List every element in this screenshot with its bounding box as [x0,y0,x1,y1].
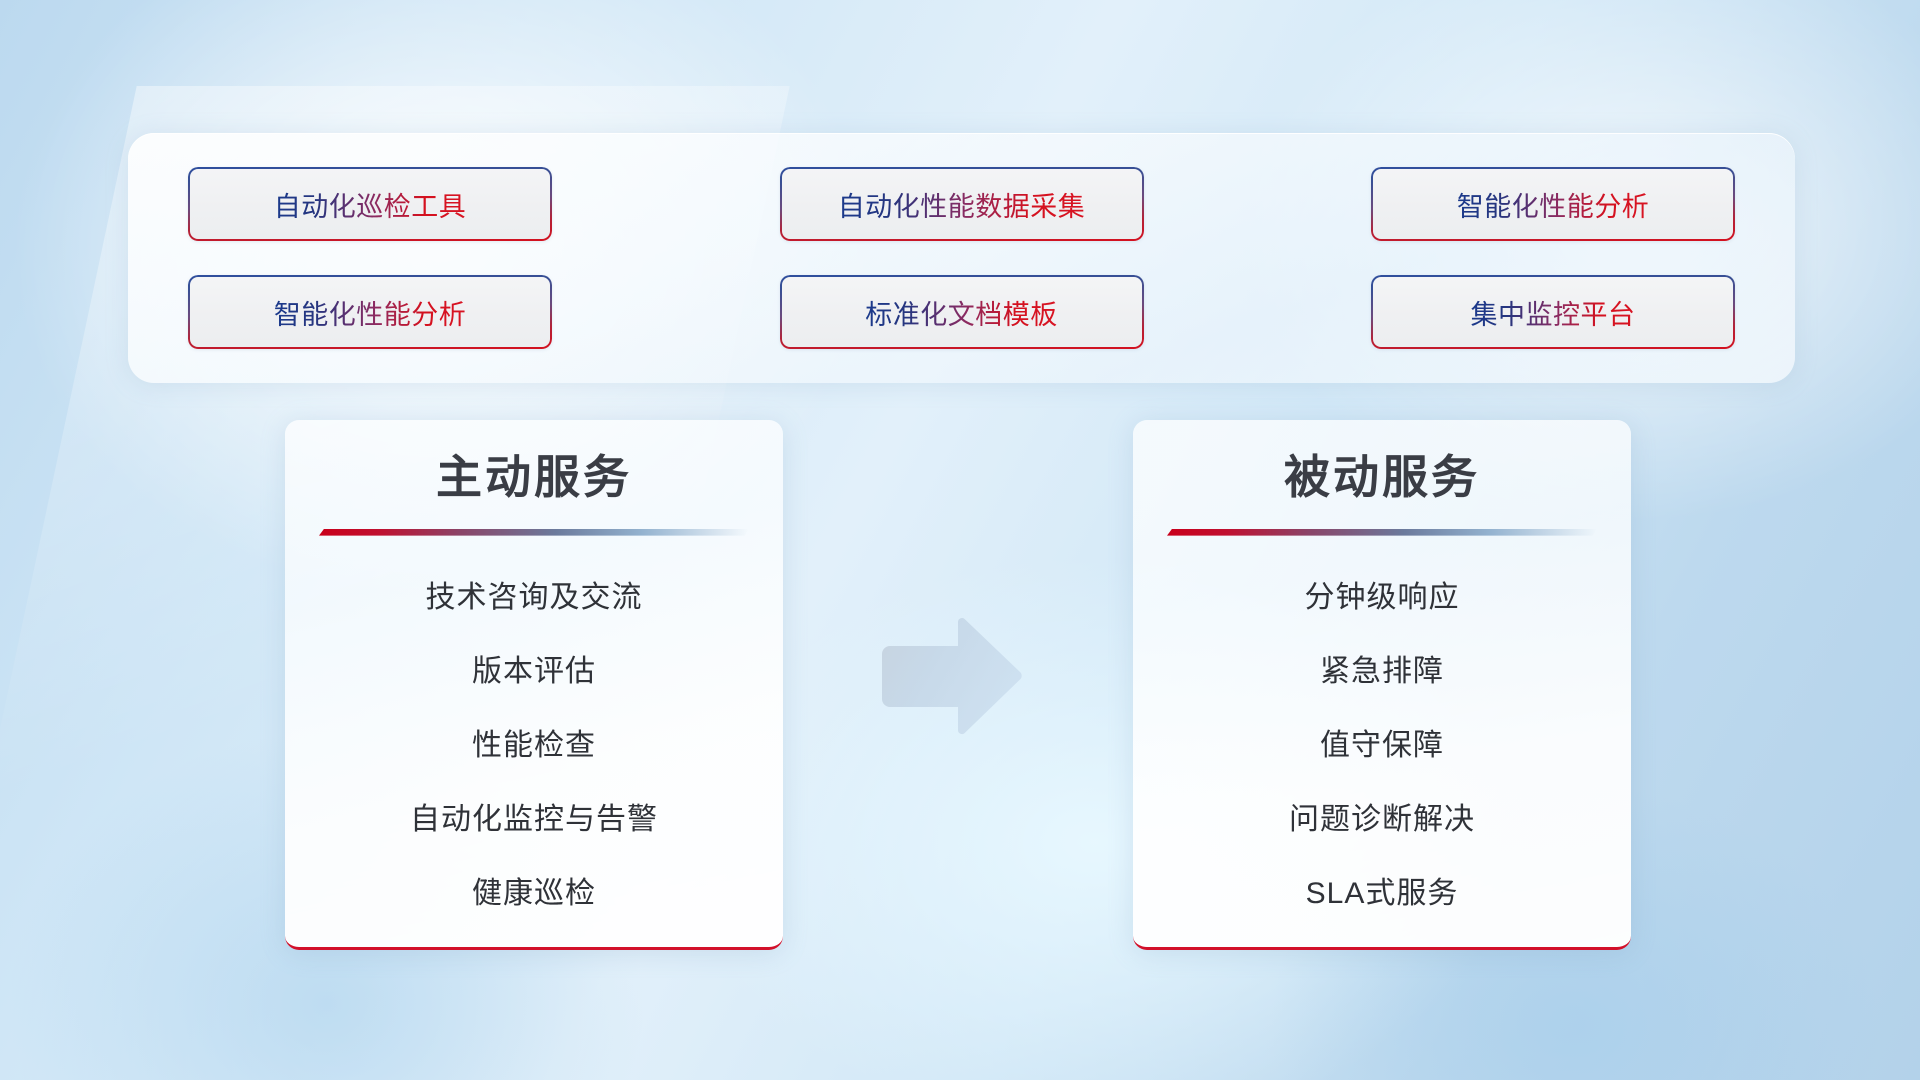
list-item: 健康巡检 [472,868,596,912]
card-divider [319,529,749,536]
capability-pill-centralized-monitoring-platform[interactable]: 集中监控平台 [1371,275,1735,349]
capability-pill-label: 智能化性能分析 [1457,185,1650,224]
capability-row-1: 自动化巡检工具 自动化性能数据采集 智能化性能分析 [188,167,1735,241]
capability-pill-label: 集中监控平台 [1471,293,1636,332]
capability-panel: 自动化巡检工具 自动化性能数据采集 智能化性能分析 智能化性能分析 标准化文档模… [128,133,1795,383]
card-item-list: 分钟级响应 紧急排障 值守保障 问题诊断解决 SLA式服务 [1133,572,1631,912]
list-item: 技术咨询及交流 [426,572,643,616]
card-item-list: 技术咨询及交流 版本评估 性能检查 自动化监控与告警 健康巡检 [285,572,783,912]
card-divider [1167,529,1597,536]
list-item: 分钟级响应 [1305,572,1460,616]
card-title: 被动服务 [1133,452,1631,503]
capability-pill-automation-inspection-tool[interactable]: 自动化巡检工具 [188,167,552,241]
capability-pill-intelligent-performance-analysis[interactable]: 智能化性能分析 [1371,167,1735,241]
capability-pill-label: 自动化巡检工具 [274,185,467,224]
service-card-proactive: 主动服务 技术咨询及交流 版本评估 性能检查 自动化监控与告警 健康巡检 [285,420,783,950]
list-item: 问题诊断解决 [1289,794,1475,838]
capability-pill-label: 智能化性能分析 [274,293,467,332]
capability-pill-automation-performance-data-collection[interactable]: 自动化性能数据采集 [780,167,1144,241]
capability-pill-standardized-document-template[interactable]: 标准化文档模板 [780,275,1144,349]
list-item: 紧急排障 [1320,646,1444,690]
capability-row-2: 智能化性能分析 标准化文档模板 集中监控平台 [188,275,1735,349]
list-item: 性能检查 [472,720,596,764]
service-card-reactive: 被动服务 分钟级响应 紧急排障 值守保障 问题诊断解决 SLA式服务 [1133,420,1631,950]
list-item: 版本评估 [472,646,596,690]
capability-pill-label: 标准化文档模板 [865,293,1058,332]
list-item: 自动化监控与告警 [410,794,658,838]
capability-pill-label: 自动化性能数据采集 [838,185,1086,224]
list-item: SLA式服务 [1306,868,1459,912]
arrow-right-icon [872,618,1024,736]
list-item: 值守保障 [1320,720,1444,764]
card-title: 主动服务 [285,452,783,503]
capability-pill-intelligent-performance-analysis-2[interactable]: 智能化性能分析 [188,275,552,349]
